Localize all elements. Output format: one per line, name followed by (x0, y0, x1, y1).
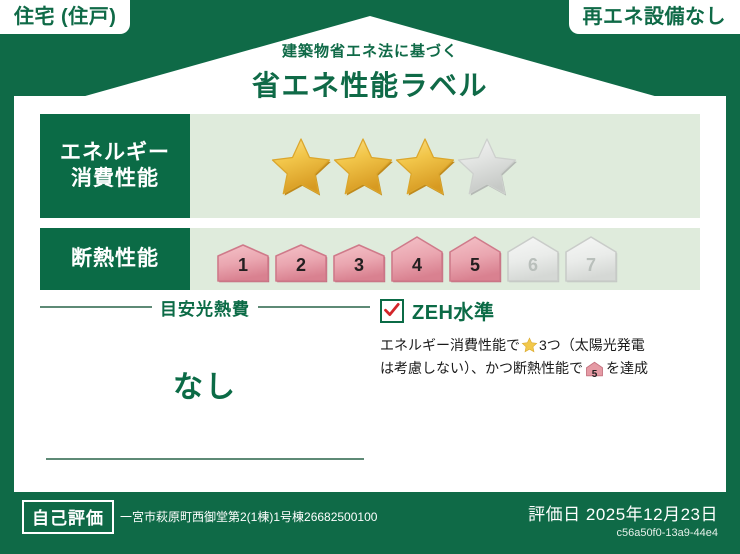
zeh-desc-part2: は考慮しない）、かつ断熱性能で (380, 360, 583, 376)
zeh-block: ZEH水準 エネルギー消費性能で3つ（太陽光発電は考慮しない）、かつ断熱性能で5… (380, 296, 700, 384)
check-icon (383, 301, 401, 319)
evaluation-date-value: 2025年12月23日 (586, 505, 718, 524)
utility-cost-title: 目安光熱費 (160, 295, 250, 320)
energy-performance-label: エネルギー 消費性能 (40, 114, 190, 218)
badge-building-type: 住宅 (住戸) (0, 0, 130, 34)
insulation-performance-row: 断熱性能 1234567 (40, 228, 700, 290)
inline-star-icon (521, 337, 538, 353)
energy-performance-row: エネルギー 消費性能 (40, 114, 700, 218)
insulation-performance-label: 断熱性能 (40, 228, 190, 290)
zeh-header: ZEH水準 (380, 296, 700, 325)
insulation-level-scale: 1234567 (216, 235, 618, 283)
star-filled-icon (394, 136, 456, 196)
energy-label-line1: エネルギー (60, 140, 170, 166)
zeh-checkbox (380, 299, 404, 323)
zeh-title: ZEH水準 (412, 296, 495, 325)
utility-cost-value: なし (40, 362, 370, 406)
insulation-level-number: 2 (274, 255, 328, 276)
zeh-description: エネルギー消費性能で3つ（太陽光発電は考慮しない）、かつ断熱性能で5を達成 (380, 334, 700, 384)
utility-cost-header: 目安光熱費 (40, 296, 370, 318)
insulation-level-5: 5 (448, 235, 502, 283)
insulation-level-7: 7 (564, 235, 618, 283)
star-empty-icon (456, 136, 518, 196)
insulation-level-4: 4 (390, 235, 444, 283)
inline-house-icon: 5 (585, 361, 604, 384)
insulation-level-2: 2 (274, 243, 328, 283)
zeh-desc-stars: 3つ（太陽光発電 (539, 337, 645, 353)
footer: 自己評価 一宮市萩原町西御堂第2(1棟)1号棟26682500100 評価日 2… (0, 492, 740, 554)
insulation-label-text: 断熱性能 (71, 246, 159, 272)
star-filled-icon (332, 136, 394, 196)
rule-left (40, 306, 152, 308)
insulation-level-3: 3 (332, 243, 386, 283)
zeh-desc-part1: エネルギー消費性能で (380, 337, 520, 353)
star-filled-icon (270, 136, 332, 196)
insulation-level-number: 4 (390, 255, 444, 276)
badge-renewable-energy: 再エネ設備なし (569, 0, 740, 34)
insulation-level-number: 7 (564, 255, 618, 276)
label-card: エネルギー 消費性能 断熱性能 1234567 目安光熱費 なし (14, 96, 726, 492)
self-evaluation-badge: 自己評価 (22, 500, 114, 534)
rule-right (258, 306, 370, 308)
insulation-performance-body: 1234567 (190, 228, 700, 290)
utility-cost-bottom-rule (46, 458, 364, 460)
document-id: c56a50f0-13a9-44e4 (528, 527, 718, 539)
energy-label-line2: 消費性能 (71, 166, 159, 192)
zeh-desc-part3: を達成 (606, 360, 648, 376)
energy-performance-body (190, 114, 700, 218)
evaluation-date-label: 評価日 (528, 505, 581, 524)
insulation-level-number: 5 (448, 255, 502, 276)
evaluation-date: 評価日 2025年12月23日 (528, 500, 718, 525)
insulation-level-number: 6 (506, 255, 560, 276)
energy-label-root: 建築物省エネ法に基づく 省エネ性能ラベル 住宅 (住戸) 再エネ設備なし エネル… (0, 0, 740, 554)
property-address: 一宮市萩原町西御堂第2(1棟)1号棟26682500100 (120, 508, 377, 525)
insulation-level-6: 6 (506, 235, 560, 283)
footer-right: 評価日 2025年12月23日 c56a50f0-13a9-44e4 (528, 500, 718, 539)
insulation-level-number: 1 (216, 255, 270, 276)
insulation-level-number: 3 (332, 255, 386, 276)
insulation-level-1: 1 (216, 243, 270, 283)
inline-house-number: 5 (585, 367, 604, 384)
star-rating (270, 136, 518, 196)
utility-cost-block: 目安光熱費 なし (40, 296, 370, 466)
